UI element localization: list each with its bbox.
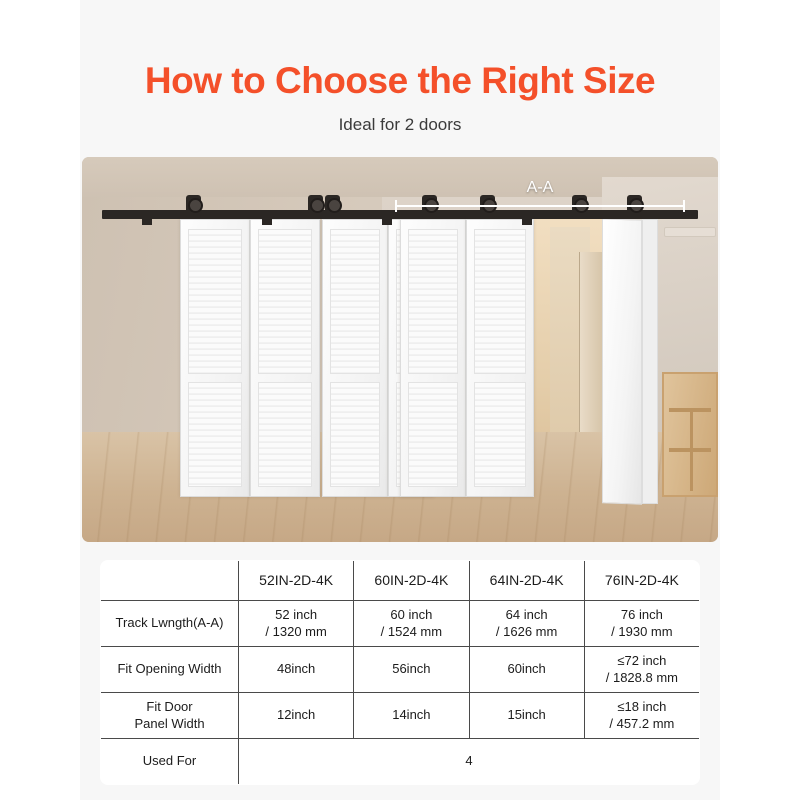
door-panel-open bbox=[602, 218, 642, 504]
wall-vent bbox=[664, 227, 716, 237]
track-mount bbox=[522, 219, 532, 225]
table-cell: 15inch bbox=[469, 693, 584, 739]
table-cell: 60inch bbox=[469, 647, 584, 693]
cell-line-2: / 1524 mm bbox=[356, 624, 466, 640]
table-cell: ≤18 inch / 457.2 mm bbox=[584, 693, 699, 739]
cell-line-2: / 457.2 mm bbox=[587, 716, 697, 732]
table-model-header: 60IN-2D-4K bbox=[354, 561, 469, 601]
cell-line-1: 12inch bbox=[241, 707, 351, 723]
table-cell: 52 inch / 1320 mm bbox=[239, 601, 354, 647]
door-louver-panel bbox=[408, 229, 458, 374]
spec-table: 52IN-2D-4K 60IN-2D-4K 64IN-2D-4K 76IN-2D… bbox=[100, 560, 700, 785]
door-louver-panel bbox=[330, 382, 380, 487]
door-panel bbox=[180, 219, 250, 497]
table-row: Used For 4 bbox=[101, 739, 700, 785]
dimension-line-aa bbox=[395, 205, 685, 207]
table-model-header: 52IN-2D-4K bbox=[239, 561, 354, 601]
cell-line-1: 52 inch bbox=[241, 607, 351, 623]
door-panel bbox=[400, 219, 466, 497]
door-panel bbox=[250, 219, 320, 497]
cell-line-1: 60 inch bbox=[356, 607, 466, 623]
page-subtitle: Ideal for 2 doors bbox=[0, 115, 800, 135]
door-louver-panel bbox=[188, 229, 242, 374]
table-cell: 48inch bbox=[239, 647, 354, 693]
track-mount bbox=[142, 219, 152, 225]
table-cell: 60 inch / 1524 mm bbox=[354, 601, 469, 647]
cell-line-2: / 1828.8 mm bbox=[587, 670, 697, 686]
cell-line-2: / 1626 mm bbox=[472, 624, 582, 640]
row-label-line-2: Panel Width bbox=[103, 716, 236, 732]
cell-line-2: / 1320 mm bbox=[241, 624, 351, 640]
door-panel bbox=[466, 219, 534, 497]
cell-line-1: 48inch bbox=[241, 661, 351, 677]
roller-hanger bbox=[186, 195, 201, 217]
cell-line-1: ≤72 inch bbox=[587, 653, 697, 669]
table-model-header: 76IN-2D-4K bbox=[584, 561, 699, 601]
table-cell: 64 inch / 1626 mm bbox=[469, 601, 584, 647]
row-label-fit-opening-width: Fit Opening Width bbox=[101, 647, 239, 693]
table-row: Fit Opening Width 48inch 56inch 60inch ≤… bbox=[101, 647, 700, 693]
table-cell: 14inch bbox=[354, 693, 469, 739]
product-photo: A-A Door Thickness: 1-3/8" ~ 1-3/4" bbox=[82, 157, 718, 542]
door-louver-panel bbox=[474, 229, 526, 374]
page-title: How to Choose the Right Size bbox=[0, 60, 800, 102]
cell-line-1: 14inch bbox=[356, 707, 466, 723]
cell-line-1: 60inch bbox=[472, 661, 582, 677]
table-cell: 76 inch / 1930 mm bbox=[584, 601, 699, 647]
door-louver-panel bbox=[258, 382, 312, 487]
shelf-divider bbox=[690, 410, 693, 491]
row-label-used-for: Used For bbox=[101, 739, 239, 785]
table-row: Track Lwngth(A-A) 52 inch / 1320 mm 60 i… bbox=[101, 601, 700, 647]
dimension-label-aa: A-A bbox=[395, 179, 685, 197]
table-cell-used-for-value: 4 bbox=[239, 739, 700, 785]
table-corner-cell bbox=[101, 561, 239, 601]
table-cell: 56inch bbox=[354, 647, 469, 693]
row-label-line-1: Fit Door bbox=[103, 699, 236, 715]
door-panel bbox=[322, 219, 388, 497]
cell-line-2: / 1930 mm bbox=[587, 624, 697, 640]
roller-hanger bbox=[308, 195, 323, 217]
wooden-shelf bbox=[662, 372, 718, 497]
row-label-fit-door-panel-width: Fit Door Panel Width bbox=[101, 693, 239, 739]
door-louver-panel bbox=[330, 229, 380, 374]
cell-line-1: 56inch bbox=[356, 661, 466, 677]
cell-line-1: ≤18 inch bbox=[587, 699, 697, 715]
page-root: How to Choose the Right Size Ideal for 2… bbox=[0, 0, 800, 800]
door-louver-panel bbox=[188, 382, 242, 487]
table-header-row: 52IN-2D-4K 60IN-2D-4K 64IN-2D-4K 76IN-2D… bbox=[101, 561, 700, 601]
cell-line-1: 76 inch bbox=[587, 607, 697, 623]
cell-line-1: 64 inch bbox=[472, 607, 582, 623]
table-row: Fit Door Panel Width 12inch 14inch 15inc… bbox=[101, 693, 700, 739]
table-cell: 12inch bbox=[239, 693, 354, 739]
track-mount bbox=[262, 219, 272, 225]
door-louver-panel bbox=[408, 382, 458, 487]
door-panel-open-edge bbox=[642, 219, 658, 504]
door-louver-panel bbox=[474, 382, 526, 487]
roller-hanger bbox=[325, 195, 340, 217]
table-cell: ≤72 inch / 1828.8 mm bbox=[584, 647, 699, 693]
door-louver-panel bbox=[258, 229, 312, 374]
track-mount bbox=[382, 219, 392, 225]
table-model-header: 64IN-2D-4K bbox=[469, 561, 584, 601]
row-label-track-length: Track Lwngth(A-A) bbox=[101, 601, 239, 647]
cell-line-1: 15inch bbox=[472, 707, 582, 723]
